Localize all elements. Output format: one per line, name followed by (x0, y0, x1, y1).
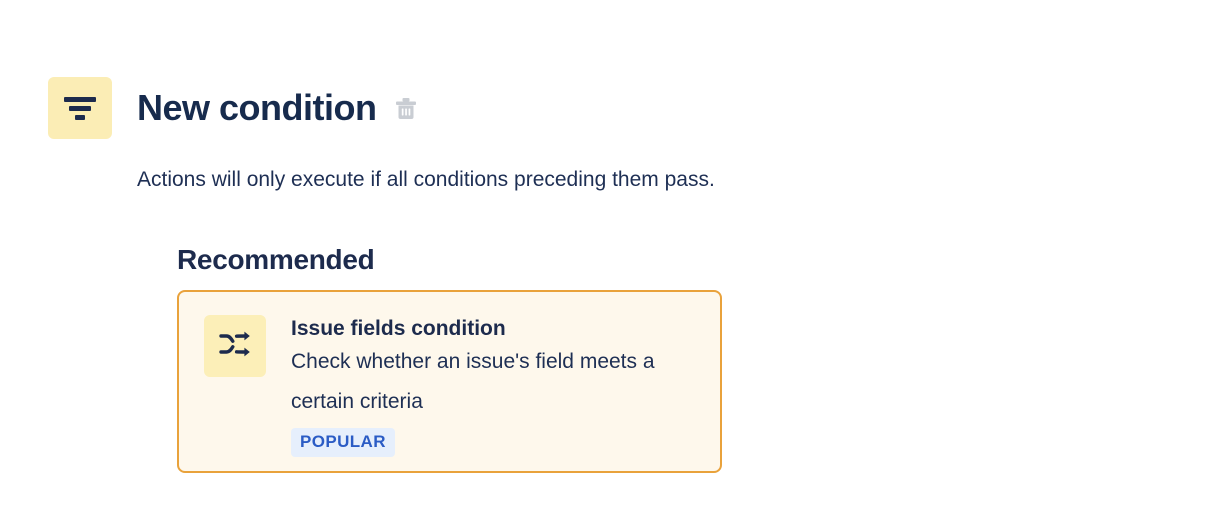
trash-icon (395, 97, 417, 124)
page-title: New condition (137, 90, 377, 126)
shuffle-icon (218, 329, 252, 364)
panel-header: New condition (48, 77, 418, 139)
condition-option-card[interactable]: Issue fields condition Check whether an … (177, 290, 722, 473)
delete-condition-button[interactable] (394, 98, 418, 122)
recommended-section-heading: Recommended (177, 243, 374, 277)
condition-filter-icon-tile (48, 77, 112, 139)
issue-fields-condition-icon-tile (204, 315, 266, 377)
new-condition-panel: New condition Actions will only execute … (0, 0, 1218, 508)
card-title: Issue fields condition (291, 316, 691, 342)
panel-description: Actions will only execute if all conditi… (137, 166, 715, 194)
filter-icon (63, 95, 97, 121)
card-description: Check whether an issue's field meets a c… (291, 342, 691, 422)
status-badge: POPULAR (291, 428, 395, 457)
badge-row: POPULAR (291, 428, 691, 457)
header-title-group: New condition (137, 77, 418, 139)
card-body: Issue fields condition Check whether an … (291, 315, 691, 457)
